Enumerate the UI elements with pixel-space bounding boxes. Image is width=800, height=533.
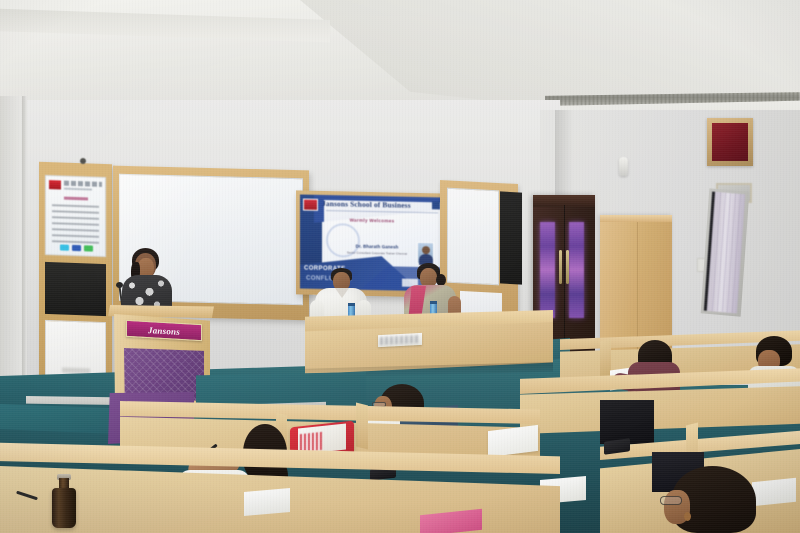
- left-frame-dark-panel: [45, 262, 106, 316]
- desk-grommet: [720, 452, 739, 460]
- desk-grommet: [520, 430, 537, 437]
- poster-subheading: [64, 188, 92, 191]
- paper-sheets: [244, 488, 290, 516]
- jansons-logo-icon: [49, 180, 61, 189]
- poster-body-text: [52, 204, 99, 244]
- red-bag-pattern: [300, 432, 322, 452]
- desk-grommet: [106, 450, 127, 459]
- door-handle-icon[interactable]: [559, 250, 562, 284]
- desk-partition: [356, 403, 368, 450]
- wall-knob-icon: [80, 158, 86, 164]
- poster-title: [64, 197, 88, 201]
- portrait-head: [422, 246, 430, 254]
- twitter-icon: [60, 244, 69, 250]
- woman-front-right-ear: [684, 512, 691, 521]
- jansons-logo-icon: [303, 199, 318, 211]
- paper-sheets: [752, 478, 796, 507]
- facebook-icon: [72, 245, 81, 251]
- student-chair: [600, 400, 654, 444]
- right-board-dark-panel: [500, 191, 522, 284]
- desk-grommet: [348, 494, 370, 503]
- speaker-portrait-icon: [417, 242, 434, 264]
- desk-grommet: [594, 412, 611, 419]
- wall-speaker-icon: [619, 157, 628, 176]
- poster-heading: [64, 181, 102, 187]
- carpet-band-center: [196, 372, 366, 406]
- eyeglasses-icon: [660, 496, 682, 505]
- whatsapp-icon: [84, 245, 93, 251]
- poster-social-icons: [60, 244, 93, 251]
- dark-glass-bottle: [52, 488, 76, 528]
- violet-glass-panel: [569, 222, 584, 318]
- maroon-wall-panel: [712, 123, 748, 161]
- left-frame-label: [62, 368, 90, 374]
- violet-glass-panel: [540, 222, 555, 318]
- notice-poster: [45, 175, 106, 257]
- right-whiteboard: [447, 188, 499, 286]
- cabinet-top: [600, 215, 672, 222]
- board-badge-icon: [432, 201, 440, 209]
- lecture-hall-photo: Jansons School of Business Warmly Welcom…: [0, 0, 800, 533]
- door-handle-icon[interactable]: [566, 250, 569, 284]
- slide-institution-name: Jansons School of Business: [322, 199, 411, 210]
